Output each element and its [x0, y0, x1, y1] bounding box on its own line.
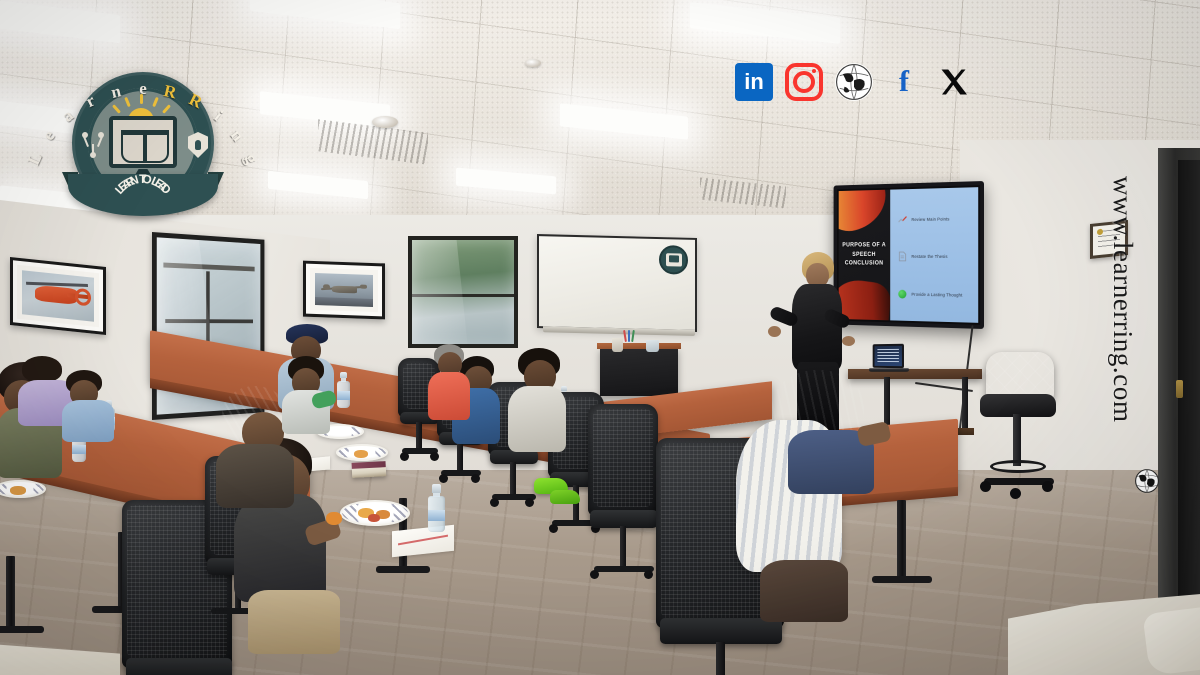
- aircraft-nacelle: [360, 284, 368, 289]
- x-glyph: [939, 67, 969, 97]
- facebook-glyph: f: [899, 67, 909, 97]
- aircraft-image: [315, 273, 373, 307]
- student-torso: [508, 386, 566, 452]
- chair-backrest: [588, 404, 658, 516]
- table-leg: [6, 556, 15, 630]
- pen-holder: [624, 330, 634, 342]
- caster-wheel: [490, 498, 499, 507]
- caster-wheel: [1042, 481, 1053, 492]
- logo-wordmark-char: a: [58, 106, 77, 127]
- student: [62, 370, 118, 440]
- snack-food: [368, 514, 380, 522]
- student-leg: [760, 560, 848, 622]
- supply-cup: [646, 340, 659, 352]
- slide-bullet-panel: Review Main Points Restate the Thesis Pr…: [890, 187, 978, 323]
- linkedin-glyph: in: [744, 71, 764, 93]
- network-node-icon: [82, 132, 104, 158]
- presenter-hand: [842, 336, 855, 346]
- caster-wheel: [549, 524, 558, 533]
- globe-graphic: [835, 63, 873, 101]
- supply-cup: [612, 338, 623, 352]
- facebook-icon[interactable]: f: [885, 63, 923, 101]
- student-torso: [62, 400, 114, 442]
- slide-bullet: Review Main Points: [897, 213, 973, 225]
- snack-food: [354, 450, 368, 458]
- door-handle[interactable]: [1176, 380, 1183, 398]
- napkin-stripe: [398, 535, 448, 546]
- smoke-detector-icon: [525, 59, 541, 67]
- student: [282, 356, 334, 432]
- student-leg: [248, 590, 340, 654]
- chair-seat: [126, 658, 232, 675]
- logo-wordmark-char: R: [186, 90, 206, 113]
- logo-wordmark-char: i: [210, 107, 226, 125]
- table-foot: [0, 626, 44, 633]
- website-globe-icon[interactable]: [835, 63, 873, 101]
- book-cover: [352, 461, 386, 469]
- logo-banner: LEARN TO LEAD: [62, 168, 224, 224]
- caster-wheel: [1010, 488, 1021, 499]
- snack-food: [10, 486, 26, 495]
- globe-icon: [1134, 468, 1160, 494]
- caster-wheel: [525, 498, 534, 507]
- whiteboard: [537, 234, 697, 332]
- student: [428, 344, 472, 420]
- rotor-blade: [26, 282, 88, 287]
- caster-wheel: [980, 481, 991, 492]
- linkedin-icon[interactable]: in: [735, 63, 773, 101]
- storage-credenza: [600, 348, 678, 396]
- aircraft-nacelle: [323, 284, 331, 289]
- logo-tagline: LEARN TO LEAD: [68, 174, 218, 216]
- slide: PURPOSE OF A SPEECH CONCLUSION Review Ma…: [839, 187, 979, 323]
- student-shoe: [550, 490, 580, 504]
- student-hair: [22, 356, 62, 382]
- caster-wheel: [400, 452, 409, 461]
- instagram-icon[interactable]: [785, 63, 823, 101]
- helicopter-image: [22, 270, 94, 322]
- window-glare: [408, 236, 470, 348]
- check-pencil-icon: [897, 214, 907, 225]
- pen: [628, 330, 630, 342]
- chair-post: [716, 642, 725, 675]
- caster-wheel: [644, 570, 653, 579]
- logo-wordmark-char: r: [83, 91, 99, 112]
- cloth-fold: [1142, 606, 1200, 675]
- website-url: www.learnerring.com: [1107, 176, 1138, 423]
- document-icon: [897, 252, 907, 263]
- classroom-scene: PURPOSE OF A SPEECH CONCLUSION Review Ma…: [0, 0, 1200, 675]
- paper-plate: [340, 500, 410, 526]
- water-bottle: [337, 372, 350, 408]
- presenter-torso: [792, 284, 842, 370]
- laptop-screen-content: [877, 349, 899, 363]
- logo-wordmark-char: n: [109, 81, 123, 103]
- student: [762, 370, 882, 550]
- student-torso: [428, 372, 470, 420]
- exterior-window: [408, 236, 518, 348]
- framed-aircraft-photo: [303, 261, 385, 320]
- social-media-icons: in f: [735, 58, 995, 106]
- student-torso: [216, 444, 294, 508]
- green-dot-icon: [897, 289, 907, 300]
- chair-post: [416, 422, 422, 450]
- snack-food: [326, 512, 342, 525]
- x-twitter-icon[interactable]: [935, 63, 973, 101]
- mesh-task-chair[interactable]: [588, 404, 658, 516]
- smoke-detector-icon: [372, 116, 398, 128]
- chair-post: [620, 526, 626, 570]
- credenza-top: [597, 343, 681, 349]
- caster-wheel: [471, 474, 480, 483]
- caster-wheel: [439, 474, 448, 483]
- globe-graphic: [1134, 468, 1160, 494]
- aircraft-fuselage: [332, 285, 356, 293]
- paper-plate: [336, 444, 388, 461]
- water-bottle: [428, 484, 445, 532]
- slide-graphic-top: [839, 190, 890, 236]
- laptop-screen: [873, 344, 904, 369]
- slide-bullet: Provide a Lasting Thought: [897, 289, 973, 301]
- slide-bullet: Restate the Thesis: [897, 252, 973, 263]
- monitor-icon: [666, 253, 682, 266]
- sun-ray: [140, 94, 143, 104]
- instagram-dot: [812, 69, 816, 73]
- stool-post: [1013, 414, 1021, 466]
- framed-helicopter-photo: [10, 257, 106, 335]
- table-foot: [376, 566, 430, 573]
- caster-wheel: [590, 570, 599, 579]
- monitor-icon: [109, 116, 177, 168]
- learnerring-logo: LearneRRing LEARN TO LEAD: [62, 72, 224, 224]
- student-torso: [234, 494, 326, 602]
- logo-wordmark-char: R: [162, 81, 179, 103]
- book: [352, 465, 387, 478]
- slide-bullet-text: Review Main Points: [911, 216, 949, 222]
- table-foot: [872, 576, 932, 583]
- stool-footring: [990, 460, 1046, 473]
- slide-bullet-text: Restate the Thesis: [911, 254, 947, 259]
- open-book-icon: [121, 130, 169, 158]
- chair-post: [510, 462, 516, 496]
- table-leg: [897, 500, 906, 580]
- tail-rotor-icon: [75, 288, 91, 306]
- slide-bullet-text: Provide a Lasting Thought: [911, 292, 962, 298]
- whiteboard-logo-sticker: [659, 245, 688, 275]
- pen: [623, 330, 627, 342]
- student: [508, 348, 570, 458]
- slide-title-line: PURPOSE OF A: [842, 242, 886, 251]
- podium-leg: [962, 377, 968, 435]
- stool-backrest: [986, 352, 1054, 400]
- black-drafting-stool[interactable]: [980, 352, 1058, 522]
- caster-wheel: [430, 452, 439, 461]
- presenter-hand: [768, 326, 781, 337]
